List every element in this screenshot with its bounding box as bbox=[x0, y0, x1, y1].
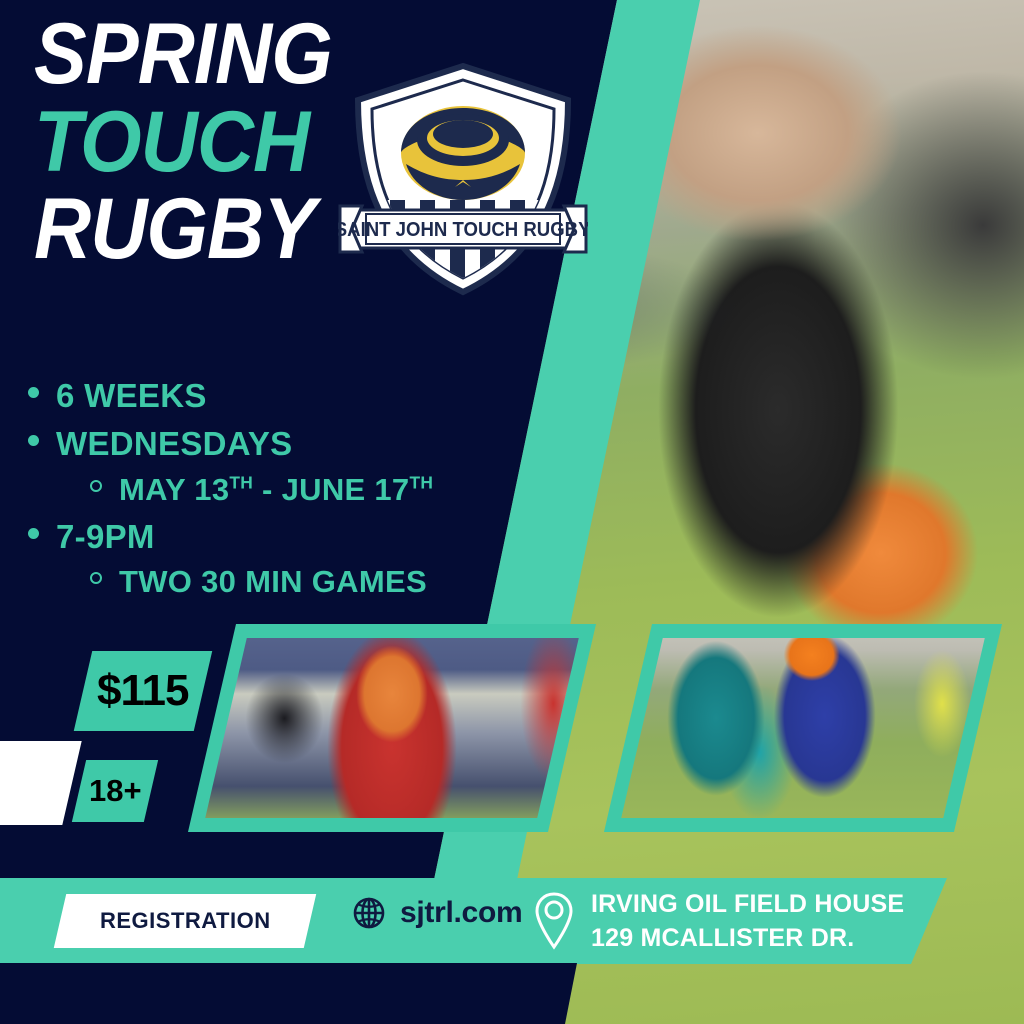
photo-inset-right bbox=[604, 624, 1002, 832]
list-item-label: 6 WEEKS bbox=[56, 372, 207, 420]
venue-street: 129 MCALLISTER DR. bbox=[591, 921, 904, 955]
website-link[interactable]: sjtrl.com bbox=[352, 896, 522, 930]
website-url: sjtrl.com bbox=[400, 896, 522, 930]
list-item: TWO 30 MIN GAMES bbox=[90, 560, 433, 605]
registration-label: REGISTRATION bbox=[100, 908, 271, 934]
list-item-label: WEDNESDAYS bbox=[56, 420, 293, 468]
bullet-dot-icon bbox=[28, 387, 39, 398]
rugby-ball-icon bbox=[401, 106, 525, 200]
map-pin-icon bbox=[533, 890, 575, 952]
venue-name: IRVING OIL FIELD HOUSE bbox=[591, 887, 904, 921]
ordinal-suffix: TH bbox=[409, 472, 433, 492]
address-lines: IRVING OIL FIELD HOUSE 129 MCALLISTER DR… bbox=[591, 887, 904, 955]
list-item-label: 7-9PM bbox=[56, 513, 155, 561]
list-item: WEDNESDAYS bbox=[28, 420, 433, 468]
list-item: 7-9PM bbox=[28, 513, 433, 561]
list-item-label: MAY 13TH - JUNE 17TH bbox=[119, 468, 433, 513]
price-badge-label: $115 bbox=[97, 666, 188, 716]
bullet-dot-icon bbox=[28, 435, 39, 446]
title-line-3: RUGBY bbox=[34, 189, 332, 271]
shield-logo-icon: SAINT JOHN TOUCH RUGBY bbox=[338, 60, 588, 300]
logo-banner-text: SAINT JOHN TOUCH RUGBY bbox=[338, 219, 588, 241]
poster-root: SPRING TOUCH RUGBY bbox=[0, 0, 1024, 1024]
photo-frame-inner bbox=[205, 638, 579, 818]
ordinal-suffix: TH bbox=[229, 472, 253, 492]
details-list: 6 WEEKS WEDNESDAYS MAY 13TH - JUNE 17TH … bbox=[28, 372, 433, 605]
age-badge-label: 18+ bbox=[89, 773, 142, 809]
globe-icon bbox=[352, 896, 386, 930]
title-line-1: SPRING bbox=[34, 14, 332, 96]
list-item: MAY 13TH - JUNE 17TH bbox=[90, 468, 433, 513]
title-line-2: TOUCH bbox=[34, 102, 332, 184]
list-item: 6 WEEKS bbox=[28, 372, 433, 420]
age-badge: 18+ bbox=[72, 760, 158, 822]
registration-button[interactable]: REGISTRATION bbox=[54, 894, 316, 948]
logo-banner: SAINT JOHN TOUCH RUGBY bbox=[338, 206, 588, 252]
photo-inset-left bbox=[188, 624, 596, 832]
bullet-dot-icon bbox=[28, 528, 39, 539]
photo-frame-inner bbox=[621, 638, 985, 818]
club-logo: SAINT JOHN TOUCH RUGBY bbox=[338, 60, 588, 300]
bullet-circle-icon bbox=[90, 480, 102, 492]
photo-right-image bbox=[621, 638, 985, 818]
page-title: SPRING TOUCH RUGBY bbox=[34, 14, 358, 277]
price-badge: $115 bbox=[74, 651, 212, 731]
photo-left-image bbox=[205, 638, 579, 818]
venue-address: IRVING OIL FIELD HOUSE 129 MCALLISTER DR… bbox=[533, 887, 904, 955]
list-item-label: TWO 30 MIN GAMES bbox=[119, 560, 427, 605]
bullet-circle-icon bbox=[90, 572, 102, 584]
